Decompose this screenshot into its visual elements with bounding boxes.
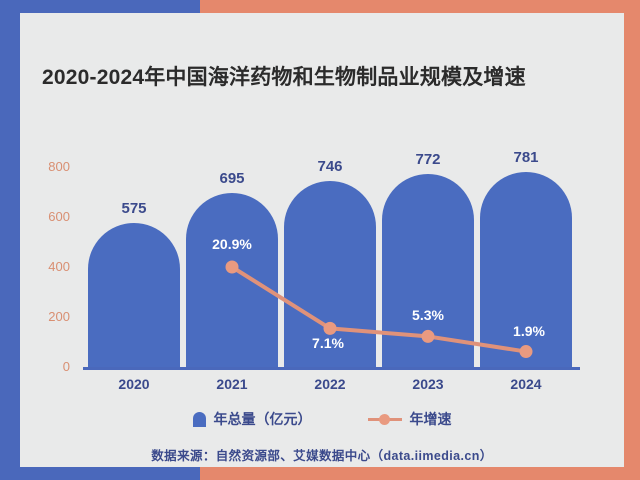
- legend-item-growth[interactable]: 年增速: [368, 409, 452, 429]
- legend-label: 年增速: [410, 409, 452, 429]
- chart-screenshot: 2020-2024年中国海洋药物和生物制品业规模及增速 800600400200…: [0, 0, 640, 480]
- bar-2023[interactable]: [382, 174, 474, 367]
- line-dot-icon: [368, 413, 402, 425]
- growth-rate-label-2024: 1.9%: [484, 324, 574, 338]
- growth-rate-label-2023: 5.3%: [383, 308, 473, 322]
- x-axis-line: [83, 367, 580, 370]
- bar-swatch-icon: [193, 412, 206, 427]
- chart-legend: 年总量（亿元）年增速: [20, 409, 624, 429]
- x-axis-tick-2020: 2020: [89, 377, 179, 391]
- frame-border-top-blue: [0, 0, 200, 13]
- x-axis-tick-2022: 2022: [285, 377, 375, 391]
- bar-value-label-2021: 695: [187, 171, 277, 186]
- bar-2021[interactable]: [186, 193, 278, 367]
- y-axis-tick-400: 400: [28, 260, 70, 273]
- y-axis-tick-200: 200: [28, 310, 70, 323]
- bar-value-label-2020: 575: [89, 201, 179, 216]
- growth-rate-label-2021: 20.9%: [187, 237, 277, 251]
- y-axis-tick-0: 0: [28, 360, 70, 373]
- chart-panel: 2020-2024年中国海洋药物和生物制品业规模及增速 800600400200…: [20, 13, 624, 467]
- legend-item-total[interactable]: 年总量（亿元）: [193, 409, 312, 429]
- bar-value-label-2024: 781: [481, 150, 571, 165]
- frame-border-right-salmon: [624, 0, 640, 480]
- y-axis-tick-800: 800: [28, 160, 70, 173]
- frame-border-left-blue: [0, 0, 20, 467]
- x-axis-tick-2021: 2021: [187, 377, 277, 391]
- data-source-note: 数据来源：自然资源部、艾媒数据中心（data.iimedia.cn）: [20, 445, 624, 464]
- legend-label: 年总量（亿元）: [214, 409, 312, 429]
- x-axis-tick-2023: 2023: [383, 377, 473, 391]
- frame-border-bottom-blue: [0, 467, 200, 480]
- x-axis-tick-2024: 2024: [481, 377, 571, 391]
- growth-rate-label-2022: 7.1%: [283, 336, 373, 350]
- frame-border-top-salmon: [200, 0, 640, 13]
- bar-value-label-2023: 772: [383, 152, 473, 167]
- bar-2020[interactable]: [88, 223, 180, 367]
- frame-border-bottom-salmon: [200, 467, 640, 480]
- y-axis-tick-600: 600: [28, 210, 70, 223]
- plot-area: 8006004002000 575695746772781 20.9%7.1%5…: [20, 13, 624, 467]
- bar-value-label-2022: 746: [285, 159, 375, 174]
